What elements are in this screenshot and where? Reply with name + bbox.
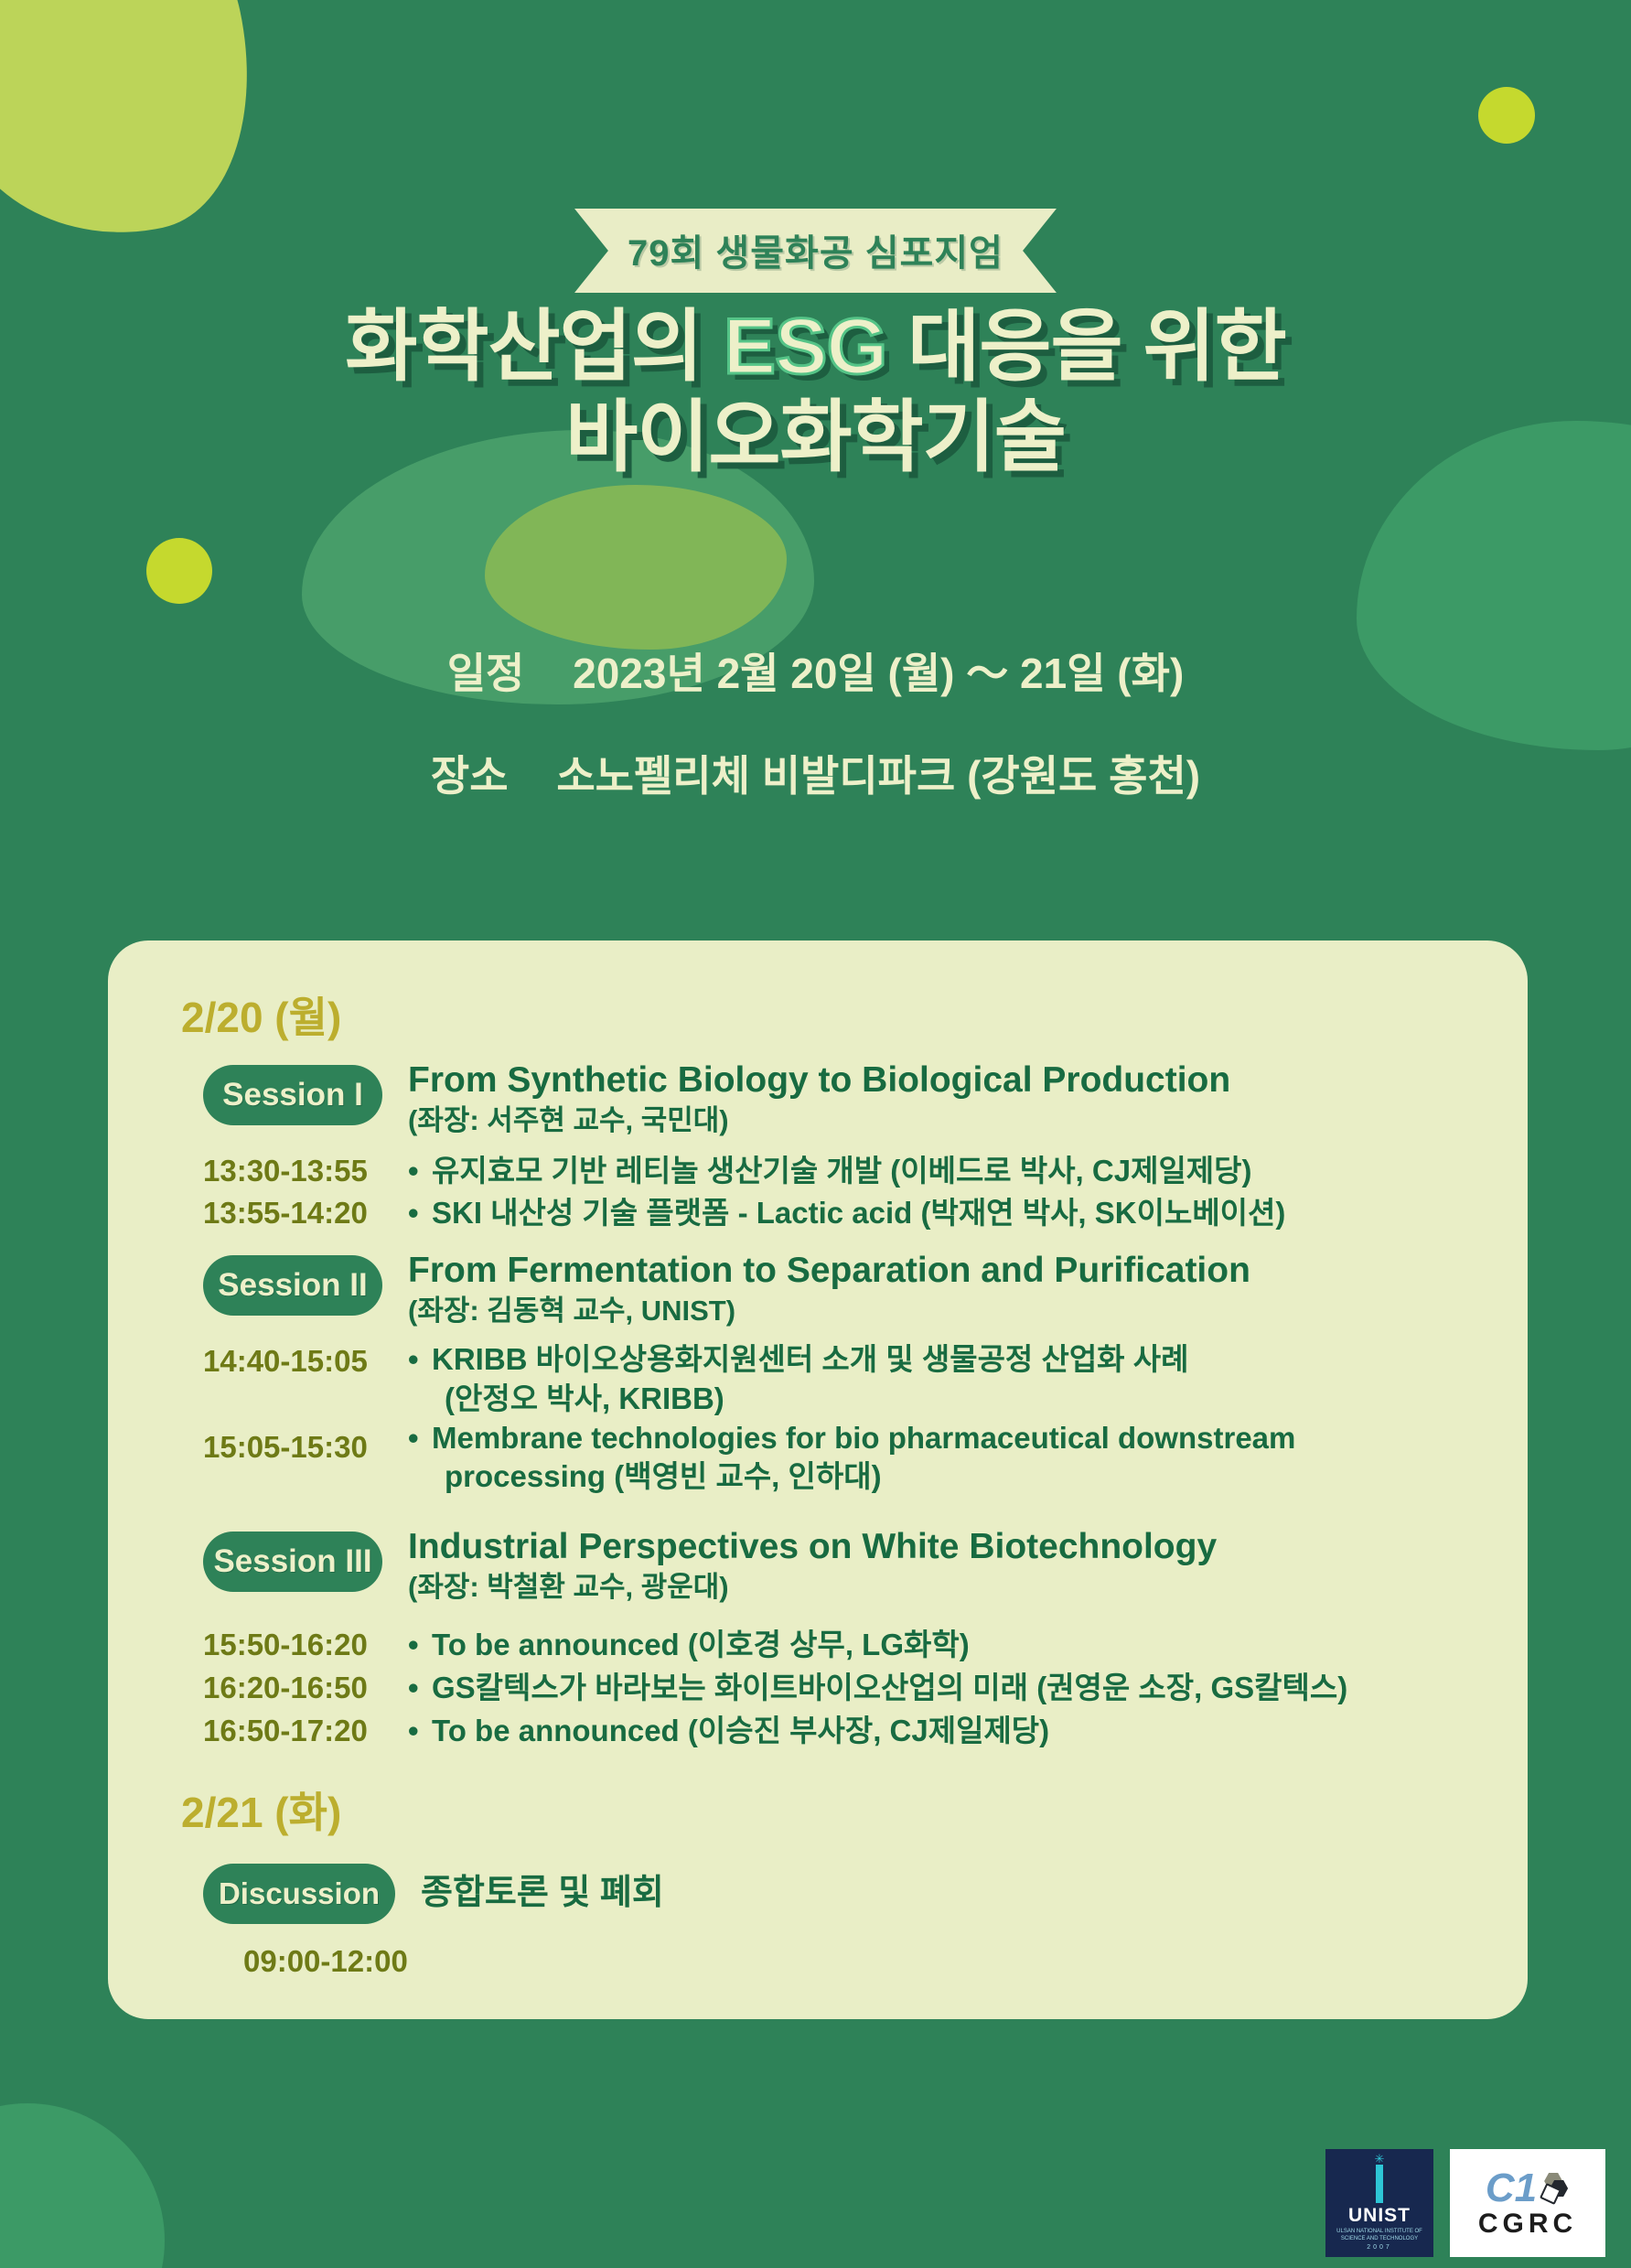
title-line-1: 화학산업의 ESG 대응을 위한 — [0, 302, 1631, 392]
footer: 주최 한국화학공학회 생물화공부문위원회 한국생물공학회 단백질/효소공학 부문… — [0, 1966, 1631, 2268]
talk-item: To be announced (이승진 부사장, CJ제일제당) — [408, 1710, 1486, 1753]
decorative-blob-olive — [485, 485, 787, 650]
talk-time: 15:05-15:30 — [203, 1426, 408, 1469]
talk-item: 유지효모 기반 레티놀 생산기술 개발 (이베드로 박사, CJ제일제당) — [408, 1150, 1486, 1193]
session-row-1: Session I From Synthetic Biology to Biol… — [108, 1061, 1528, 1137]
session-row-2: Session II From Fermentation to Separati… — [108, 1252, 1528, 1327]
title-part-a: 화학산업의 — [345, 303, 724, 391]
cgrc-wordmark: CGRC — [1478, 2210, 1577, 2238]
event-date-row: 일정 2023년 2월 20일 (월) ～ 21일 (화) — [0, 640, 1631, 701]
session-pill-1: Session I — [203, 1065, 382, 1125]
discussion-topic: 종합토론 및 폐회 — [421, 1864, 1486, 1914]
talk-text-continued: processing (백영빈 교수, 인하대) — [432, 1457, 1486, 1497]
session-talks-2: 14:40-15:05 15:05-15:30 KRIBB 바이오상용화지원센터… — [108, 1340, 1528, 1498]
ribbon-shape: 79회 생물화공 심포지엄 — [574, 209, 1057, 293]
session-chair-3: (좌장: 박철환 교수, 광운대) — [408, 1571, 1486, 1604]
session-talks-1: 13:30-13:55 13:55-14:20 유지효모 기반 레티놀 생산기술… — [108, 1150, 1528, 1236]
c1-wordmark: C1 — [1486, 2168, 1537, 2209]
session-pill-2: Session II — [203, 1255, 382, 1316]
title-part-b: 대응을 위한 — [886, 303, 1285, 391]
logo-group: ✳ UNIST ULSAN NATIONAL INSTITUTE OF SCIE… — [1325, 2149, 1605, 2257]
hexagon-icon — [1539, 2175, 1570, 2202]
talk-time: 16:20-16:50 — [203, 1667, 408, 1710]
talk-text: KRIBB 바이오상용화지원센터 소개 및 생물공정 산업화 사례 — [432, 1342, 1188, 1376]
talk-text-continued: (안정오 박사, KRIBB) — [432, 1380, 1486, 1419]
title-esg-highlight: ESG — [724, 303, 887, 391]
discussion-row: Discussion 종합토론 및 폐회 — [108, 1860, 1528, 1924]
unist-year: 2007 — [1367, 2244, 1392, 2251]
session-chair-2: (좌장: 김동혁 교수, UNIST) — [408, 1295, 1486, 1327]
talk-time: 14:40-15:05 — [203, 1340, 408, 1383]
date-value: 2023년 2월 20일 (월) ～ 21일 (화) — [573, 650, 1184, 697]
day1-label: 2/20 (월) — [181, 984, 1528, 1045]
starburst-icon: ✳ — [1375, 2155, 1385, 2163]
session-talks-3: 15:50-16:20 16:20-16:50 16:50-17:20 To b… — [108, 1624, 1528, 1753]
day2-label: 2/21 (화) — [181, 1779, 1528, 1840]
session-chair-1: (좌장: 서주현 교수, 국민대) — [408, 1104, 1486, 1137]
session-title-2: From Fermentation to Separation and Puri… — [408, 1252, 1486, 1291]
talk-time: 15:50-16:20 — [203, 1624, 408, 1667]
talk-item: GS칼텍스가 바라보는 화이트바이오산업의 미래 (권영운 소장, GS칼텍스) — [408, 1667, 1486, 1710]
unist-bar-mark — [1376, 2165, 1383, 2203]
talk-item: SKI 내산성 기술 플랫폼 - Lactic acid (박재연 박사, SK… — [408, 1192, 1486, 1235]
schedule-card: 2/20 (월) Session I From Synthetic Biolog… — [108, 941, 1528, 2019]
c1-cgrc-logo: C1 CGRC — [1450, 2149, 1605, 2257]
venue-label: 장소 — [431, 752, 509, 800]
talk-time: 13:30-13:55 — [203, 1150, 408, 1193]
unist-subtitle: ULSAN NATIONAL INSTITUTE OF SCIENCE AND … — [1325, 2229, 1433, 2242]
unist-wordmark: UNIST — [1348, 2205, 1411, 2227]
ribbon-label: 79회 생물화공 심포지엄 — [628, 223, 1003, 276]
date-label: 일정 — [447, 650, 525, 697]
session-title-1: From Synthetic Biology to Biological Pro… — [408, 1061, 1486, 1101]
event-meta: 일정 2023년 2월 20일 (월) ～ 21일 (화) 장소 소노펠리체 비… — [0, 640, 1631, 845]
discussion-pill: Discussion — [203, 1864, 395, 1924]
decorative-dot-left — [146, 538, 212, 604]
talk-time: 16:50-17:20 — [203, 1710, 408, 1753]
unist-logo: ✳ UNIST ULSAN NATIONAL INSTITUTE OF SCIE… — [1325, 2149, 1433, 2257]
venue-value: 소노펠리체 비발디파크 (강원도 홍천) — [556, 752, 1200, 800]
poster-root: 79회 생물화공 심포지엄 화학산업의 ESG 대응을 위한 바이오화학기술 일… — [0, 0, 1631, 2268]
talk-time: 13:55-14:20 — [203, 1192, 408, 1235]
session-row-3: Session III Industrial Perspectives on W… — [108, 1528, 1528, 1604]
talk-item: Membrane technologies for bio pharmaceut… — [408, 1419, 1486, 1498]
title-line-2: 바이오화학기술 — [0, 392, 1631, 483]
page-title: 화학산업의 ESG 대응을 위한 바이오화학기술 — [0, 302, 1631, 483]
session-title-3: Industrial Perspectives on White Biotech… — [408, 1528, 1486, 1567]
talk-item: KRIBB 바이오상용화지원센터 소개 및 생물공정 산업화 사례 (안정오 박… — [408, 1340, 1486, 1419]
ribbon-banner: 79회 생물화공 심포지엄 — [0, 209, 1631, 293]
decorative-dot-top-right — [1478, 87, 1535, 144]
talk-text: Membrane technologies for bio pharmaceut… — [432, 1421, 1295, 1455]
event-venue-row: 장소 소노펠리체 비발디파크 (강원도 홍천) — [0, 743, 1631, 803]
talk-item: To be announced (이호경 상무, LG화학) — [408, 1624, 1486, 1667]
session-pill-3: Session III — [203, 1532, 382, 1592]
